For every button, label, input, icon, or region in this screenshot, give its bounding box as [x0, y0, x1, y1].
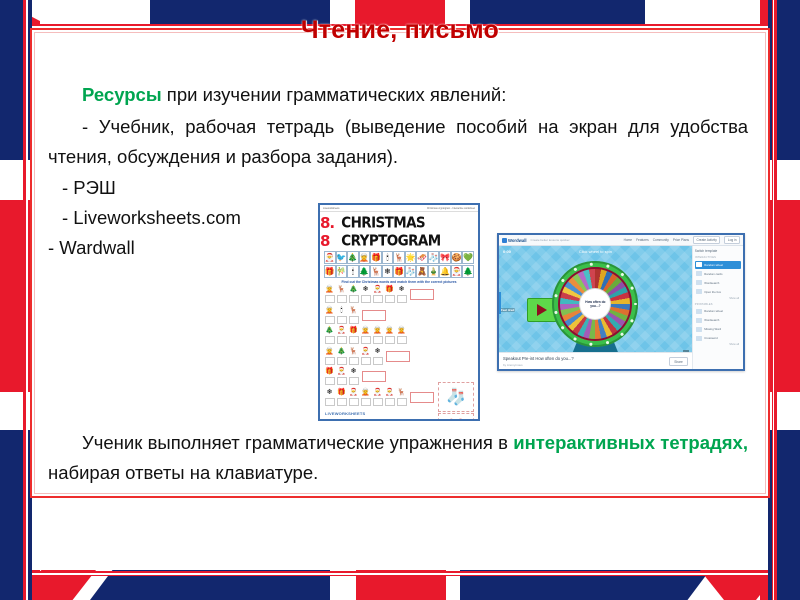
- worksheet-header-center: Christmas cryptogram - Interactive works…: [427, 207, 475, 210]
- sidebar-item-label: Random cards: [704, 272, 722, 276]
- wordwall-screenshot-image: Wordwall Create better lessons quicker H…: [497, 233, 745, 371]
- exercise-row: 🧝 🕯 🦌: [324, 307, 474, 324]
- activity-author: by Anonymous: [503, 363, 688, 367]
- key-cell: 🎁: [393, 265, 405, 278]
- sidebar-item-printable-crossword[interactable]: Crossword: [695, 334, 741, 342]
- exercise-pic: 🎁: [385, 286, 394, 295]
- exercise-answer-field[interactable]: [410, 392, 434, 403]
- key-cell: 🌟: [405, 251, 417, 264]
- exercise-blank: [325, 316, 335, 324]
- cryptogram-key-row-2: 🎁 🎋 🕯 🌲 🦌 ❄ 🎁 🧦 🧸 🎍 🔔 🎅 🌲: [324, 265, 474, 278]
- sidebar-show-all-printables[interactable]: Show all: [695, 343, 741, 346]
- sidebar-group-interactives-label: INTERACTIVES: [695, 256, 741, 259]
- exercise-cell: ❄: [372, 348, 383, 365]
- key-cell: ❄: [382, 265, 394, 278]
- resource-paragraph: - Учебник, рабочая тетрадь (выведение по…: [48, 112, 748, 172]
- exercise-pic: 🧝: [361, 389, 370, 398]
- sidebar-item-label: Random wheel: [704, 263, 723, 267]
- worksheet-header: Liveworksheets Christmas cryptogram - In…: [320, 205, 478, 212]
- exercise-pic: 🧝: [385, 327, 394, 336]
- picture-card: 🧦: [438, 382, 474, 412]
- exercise-cell: 🧝: [360, 327, 371, 344]
- slide-root: Чтение, письмо Ресурсы при изучении грам…: [0, 0, 800, 600]
- exercise-pic: ❄: [399, 286, 405, 295]
- exercise-cell: 🎅: [384, 389, 395, 406]
- exercise-blank: [337, 357, 347, 365]
- exercise-cell: 🎄: [336, 348, 347, 365]
- worksheet-picture-column: 🧦 🎁 🦌 🎁 🧝 ✉: [438, 382, 474, 421]
- log-in-button[interactable]: Log in: [724, 236, 740, 244]
- exercise-cell: ❄: [396, 286, 407, 303]
- exercise-cell: 🕯: [336, 307, 347, 324]
- sidebar-item-label: Missing Word: [704, 327, 721, 331]
- exercise-row: 🧝 🎄 🦌 🎅 ❄: [324, 348, 474, 365]
- lead-rest: при изучении грамматических явлений:: [162, 84, 507, 105]
- closing-before: Ученик выполняет грамматические упражнен…: [82, 432, 513, 453]
- exercise-cell: 🎄: [348, 286, 359, 303]
- exercise-pic: 🧝: [325, 348, 334, 357]
- exercise-pic: ❄: [363, 286, 369, 295]
- worksheet-title-main: CHRISTMAS CRYPTOGRAM: [341, 214, 478, 250]
- cryptogram-key: 🎅 🐦 🎄 🧝 🎁 🕯 🦌 🌟 🛷 🧦 🎀 🍪 💚 🎁 🎋 🕯 🌲: [320, 251, 478, 278]
- liveworksheets-cryptogram-image: Liveworksheets Christmas cryptogram - In…: [318, 203, 480, 421]
- match-arrow-icon: [392, 420, 453, 421]
- exercise-blank: [325, 377, 335, 385]
- wordwall-body: 0:00 Click wheel to spin: [499, 246, 743, 371]
- exercise-pic: ❄: [327, 389, 333, 398]
- border-bottom: [0, 570, 800, 600]
- exercise-pic: 🎅: [349, 389, 358, 398]
- exercise-blank: [385, 295, 395, 303]
- exercise-cell: 🎁: [324, 368, 335, 385]
- key-cell: 🔔: [439, 265, 451, 278]
- exercise-blank: [361, 398, 371, 406]
- exercise-pic: 🧝: [325, 307, 334, 316]
- exercise-pic: ❄: [351, 368, 357, 377]
- exercise-blank: [361, 295, 371, 303]
- exercise-blank: [397, 336, 407, 344]
- key-cell: 🎀: [439, 251, 451, 264]
- sidebar-item-label: Wordsearch: [704, 318, 719, 322]
- exercise-answer-field[interactable]: [362, 371, 386, 382]
- sidebar-group-printables-label: PRINTABLES: [695, 303, 741, 306]
- wordwall-nav-links: Home Features Community Price Plans Crea…: [624, 236, 740, 244]
- exercise-blank: [349, 295, 359, 303]
- sidebar-item-random-wheel[interactable]: Random wheel: [695, 261, 741, 269]
- exercise-cell: 🧝: [324, 307, 335, 324]
- sidebar-heading: Switch template: [695, 249, 741, 253]
- random-wheel-icon: [696, 309, 702, 314]
- exercise-blank: [397, 398, 407, 406]
- exercise-blank: [349, 336, 359, 344]
- wordsearch-icon: [696, 280, 702, 285]
- nav-item-community[interactable]: Community: [653, 238, 669, 242]
- exercise-pic: 🎁: [325, 368, 334, 377]
- key-cell: 💚: [462, 251, 474, 264]
- exercise-blank: [337, 295, 347, 303]
- exercise-blank: [349, 377, 359, 385]
- sidebar-item-label: Random wheel: [704, 309, 723, 313]
- cryptogram-key-row-1: 🎅 🐦 🎄 🧝 🎁 🕯 🦌 🌟 🛷 🧦 🎀 🍪 💚: [324, 251, 474, 264]
- worksheet-exercise-area: 🧝 🦌 🎄 ❄ 🎅 🎁 ❄ 🧝 🕯 🦌 🎄 🎅 🎁 🧝: [320, 286, 478, 406]
- key-cell: 🕯: [382, 251, 394, 264]
- missing-word-icon: [696, 327, 702, 332]
- sidebar-item-random-cards[interactable]: Random cards: [695, 270, 741, 278]
- key-cell: 🧝: [359, 251, 371, 264]
- nav-item-home[interactable]: Home: [624, 238, 633, 242]
- exercise-answer-field[interactable]: [410, 289, 434, 300]
- exercise-pic: 🦌: [337, 286, 346, 295]
- picture-card: 🎁: [438, 413, 474, 421]
- key-cell: 🎅: [451, 265, 463, 278]
- exercise-cell: 🎁: [336, 389, 347, 406]
- nav-item-features[interactable]: Features: [636, 238, 649, 242]
- exercise-pic: 🦌: [397, 389, 406, 398]
- exercise-blank: [385, 398, 395, 406]
- exercise-cell: 🦌: [348, 348, 359, 365]
- exercise-pic: 🎁: [349, 327, 358, 336]
- exercise-blank: [337, 377, 347, 385]
- exercise-row: 🧝 🦌 🎄 ❄ 🎅 🎁 ❄: [324, 286, 474, 303]
- lead-line: Ресурсы при изучении грамматических явле…: [48, 80, 748, 110]
- closing-paragraph: Ученик выполняет грамматические упражнен…: [48, 428, 748, 488]
- exercise-pic: 🎅: [361, 348, 370, 357]
- liveworksheets-logo: LIVEWORKSHEETS: [325, 411, 365, 416]
- exercise-cell: 🧝: [324, 286, 335, 303]
- exercise-blank: [337, 316, 347, 324]
- random-wheel-icon: [696, 262, 702, 267]
- exercise-cell: 🦌: [336, 286, 347, 303]
- sidebar-show-all-interactives[interactable]: Show all: [695, 297, 741, 300]
- sidebar-item-wordsearch[interactable]: Wordsearch: [695, 279, 741, 287]
- spin-wheel[interactable]: How often do you...?: [552, 261, 638, 347]
- create-activity-button[interactable]: Create Activity: [693, 236, 720, 244]
- spin-prompt: Click wheel to spin: [499, 249, 692, 254]
- exercise-cell: 🎄: [324, 327, 335, 344]
- exercise-cell: 🎅: [360, 348, 371, 365]
- exercise-blank: [325, 398, 335, 406]
- key-cell: 🍪: [451, 251, 463, 264]
- stage-scroll-indicator[interactable]: [499, 292, 501, 314]
- exercise-pic: 🦌: [349, 307, 358, 316]
- exercise-cell: 🧝: [384, 327, 395, 344]
- exercise-pic: 🎄: [349, 286, 358, 295]
- worksheet-instruction: Find out the Christmas words and match t…: [324, 280, 474, 284]
- wordwall-logo: Wordwall: [502, 238, 527, 243]
- exercise-cell: 🎅: [372, 286, 383, 303]
- exercise-blank: [373, 398, 383, 406]
- exercise-pic: 🦌: [349, 348, 358, 357]
- wheel-selected-label: Feel tired: [500, 308, 515, 312]
- key-cell: 🦌: [393, 251, 405, 264]
- activity-title: Speakout Pre-int How often do you...?: [503, 356, 688, 361]
- exercise-cell: ❄: [324, 389, 335, 406]
- exercise-blank: [349, 316, 359, 324]
- exercise-cell: 🧝: [396, 327, 407, 344]
- exercise-cell: 🎅: [336, 368, 347, 385]
- exercise-pic: 🧝: [361, 327, 370, 336]
- key-cell: 🎅: [324, 251, 336, 264]
- key-cell: 🕯: [347, 265, 359, 278]
- exercise-pic: 🎄: [325, 327, 334, 336]
- closing-accent: интерактивных тетрадях,: [513, 432, 748, 453]
- exercise-pic: 🧝: [325, 286, 334, 295]
- exercise-pic: 🎅: [337, 368, 346, 377]
- exercise-cell: 🧝: [360, 389, 371, 406]
- exercise-cell: 🎅: [372, 389, 383, 406]
- key-cell: 🦌: [370, 265, 382, 278]
- key-cell: 🌲: [359, 265, 371, 278]
- wordwall-navbar: Wordwall Create better lessons quicker H…: [499, 235, 743, 246]
- exercise-cell: ❄: [360, 286, 371, 303]
- exercise-pic: 🎅: [373, 286, 382, 295]
- key-cell: 🧦: [405, 265, 417, 278]
- exercise-blank: [337, 398, 347, 406]
- key-cell: 🎍: [428, 265, 440, 278]
- exercise-cell: 🎁: [384, 286, 395, 303]
- exercise-cell: 🎁: [348, 327, 359, 344]
- exercise-cell: 🦌: [396, 389, 407, 406]
- nav-item-price-plans[interactable]: Price Plans: [673, 238, 689, 242]
- wordwall-brand-text: Wordwall: [508, 238, 527, 243]
- exercise-blank: [325, 295, 335, 303]
- key-cell: 🌲: [462, 265, 474, 278]
- exercise-pic: 🧝: [397, 327, 406, 336]
- random-cards-icon: [696, 271, 702, 276]
- exercise-cell: 🦌: [348, 307, 359, 324]
- exercise-pic: ❄: [375, 348, 381, 357]
- exercise-blank: [397, 295, 407, 303]
- sidebar-item-open-the-box[interactable]: Open the box: [695, 288, 741, 296]
- exercise-cell: 🎅: [336, 327, 347, 344]
- crossword-icon: [696, 336, 702, 341]
- exercise-pic: 🎄: [337, 348, 346, 357]
- key-cell: 🎁: [324, 265, 336, 278]
- share-button[interactable]: Share: [669, 357, 688, 366]
- exercise-blank: [373, 295, 383, 303]
- exercise-blank: [373, 336, 383, 344]
- exercise-answer-field[interactable]: [386, 351, 410, 362]
- exercise-blank: [349, 357, 359, 365]
- worksheet-title-number: 8. 8: [320, 214, 340, 250]
- open-the-box-icon: [696, 289, 702, 294]
- page-title: Чтение, письмо: [0, 16, 800, 45]
- worksheet-title: 8. 8 CHRISTMAS CRYPTOGRAM: [320, 214, 478, 250]
- key-cell: 🧦: [428, 251, 440, 264]
- wordwall-logo-mark: [502, 238, 507, 243]
- exercise-blank: [337, 336, 347, 344]
- list-item: - РЭШ: [48, 173, 748, 203]
- activity-footer: Speakout Pre-int How often do you...? by…: [499, 352, 692, 371]
- exercise-pic: 🧝: [373, 327, 382, 336]
- exercise-blank: [325, 357, 335, 365]
- wheel-stage[interactable]: 0:00 Click wheel to spin: [499, 246, 692, 371]
- exercise-row: 🎄 🎅 🎁 🧝 🧝 🧝 🧝: [324, 327, 474, 344]
- exercise-cell: 🧝: [372, 327, 383, 344]
- exercise-cell: 🎅: [348, 389, 359, 406]
- exercise-blank: [349, 398, 359, 406]
- key-cell: 🎁: [370, 251, 382, 264]
- exercise-pic: 🎅: [337, 327, 346, 336]
- border-left: [0, 0, 32, 600]
- key-cell: 🎋: [336, 265, 348, 278]
- sidebar-item-label: Crossword: [704, 336, 717, 340]
- template-switcher-sidebar: Switch template INTERACTIVES Random whee…: [692, 246, 743, 371]
- wordwall-tagline: Create better lessons quicker: [531, 238, 570, 242]
- lead-accent: Ресурсы: [82, 84, 162, 105]
- exercise-pic: 🎁: [337, 389, 346, 398]
- exercise-answer-field[interactable]: [362, 310, 386, 321]
- exercise-blank: [373, 357, 383, 365]
- exercise-blank: [361, 336, 371, 344]
- exercise-blank: [361, 357, 371, 365]
- key-cell: 🛷: [416, 251, 428, 264]
- key-cell: 🎄: [347, 251, 359, 264]
- sidebar-item-printable-wordsearch[interactable]: Wordsearch: [695, 316, 741, 324]
- exercise-blank: [385, 336, 395, 344]
- sidebar-item-printable-missing-word[interactable]: Missing Word: [695, 325, 741, 333]
- sidebar-item-label: Wordsearch: [704, 281, 719, 285]
- wordsearch-icon: [696, 318, 702, 323]
- border-right: [768, 0, 800, 600]
- key-cell: 🧸: [416, 265, 428, 278]
- sidebar-item-label: Open the box: [704, 290, 721, 294]
- exercise-pic: 🕯: [341, 307, 343, 316]
- exercise-pic: 🎅: [385, 389, 394, 398]
- exercise-blank: [325, 336, 335, 344]
- wheel-center-label: How often do you...?: [580, 289, 610, 319]
- sidebar-item-printable-random-wheel[interactable]: Random wheel: [695, 307, 741, 315]
- key-cell: 🐦: [336, 251, 348, 264]
- exercise-cell: 🧝: [324, 348, 335, 365]
- worksheet-header-left: Liveworksheets: [323, 207, 339, 210]
- closing-after: набирая ответы на клавиатуре.: [48, 462, 318, 483]
- exercise-cell: ❄: [348, 368, 359, 385]
- exercise-pic: 🎅: [373, 389, 382, 398]
